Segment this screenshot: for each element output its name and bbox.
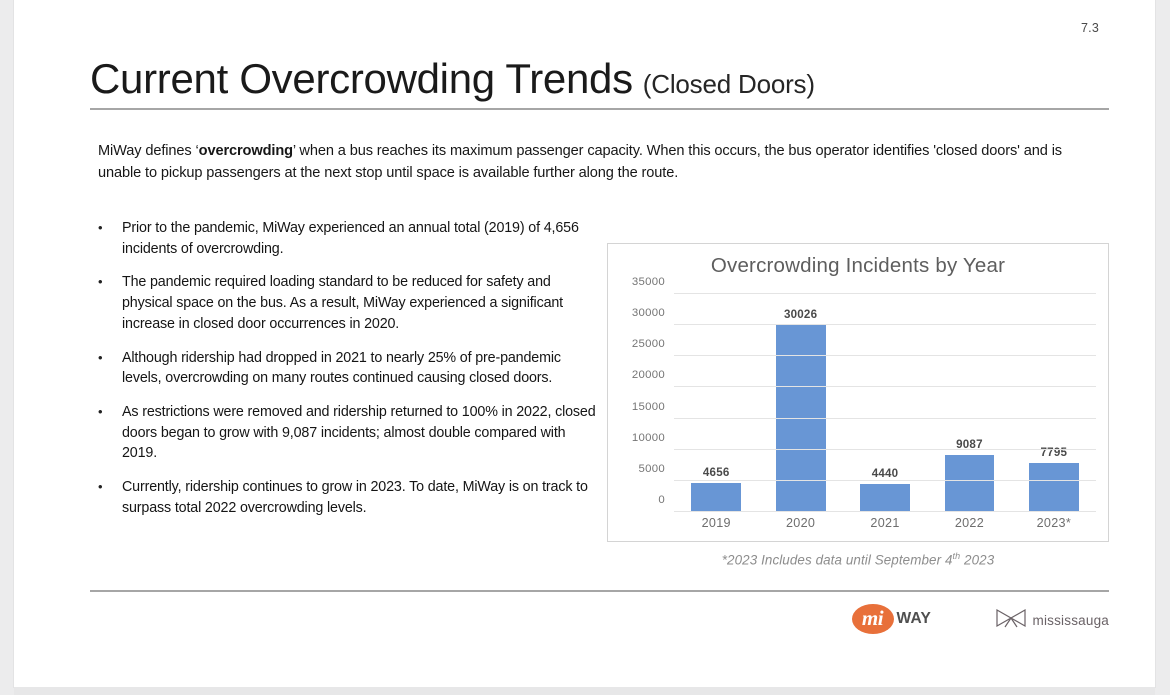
page-title: Current Overcrowding Trends (Closed Door… [90,58,1109,100]
chart-bar-value-label: 4440 [843,467,927,480]
list-item: • As restrictions were removed and rider… [98,402,598,464]
intro-paragraph: MiWay defines ‘overcrowding’ when a bus … [98,140,1073,184]
chart-footnote: *2023 Includes data until September 4th … [607,551,1109,567]
footer-logos: mi WAY mississauga [90,600,1109,644]
slide-page: 7.3 Current Overcrowding Trends (Closed … [14,0,1155,687]
mississauga-logo-word: mississauga [1033,613,1109,628]
list-item: • Although ridership had dropped in 2021… [98,348,598,389]
chart-bar-value-label: 4656 [674,466,758,479]
chart-x-tick-label: 2019 [674,516,758,530]
chart-gridline: 10000 [674,449,1096,450]
chart-x-axis-labels: 20192020202120222023* [674,516,1096,530]
list-item: • Currently, ridership continues to grow… [98,477,598,518]
page-title-main: Current Overcrowding Trends [90,58,633,100]
chart-bar [860,484,910,512]
bullet-marker-icon: • [98,218,122,259]
chart-x-tick-label: 2020 [758,516,842,530]
chart-y-tick-label: 30000 [632,307,665,319]
chart-footnote-suffix: 2023 [960,552,994,567]
chart-x-tick-label: 2022 [927,516,1011,530]
bullet-marker-icon: • [98,477,122,518]
bullet-marker-icon: • [98,348,122,389]
slide-screen: 7.3 Current Overcrowding Trends (Closed … [0,0,1170,695]
chart-gridline: 15000 [674,418,1096,419]
chart-footnote-prefix: *2023 Includes data until September 4 [722,552,953,567]
chart-bar [1029,463,1079,512]
page-title-subtitle: (Closed Doors) [643,69,815,100]
chart-gridline: 30000 [674,324,1096,325]
chart-gridline: 0 [674,511,1096,512]
list-item: • The pandemic required loading standard… [98,272,598,334]
mississauga-bowtie-icon [996,608,1026,633]
intro-text-before: MiWay defines ‘ [98,143,199,159]
chart-gridline: 5000 [674,480,1096,481]
chart-y-tick-label: 20000 [632,369,665,381]
miway-oval-icon: mi [852,604,894,634]
miway-logo: mi WAY [852,604,931,634]
chart-y-tick-label: 10000 [632,432,665,444]
list-item-text: Although ridership had dropped in 2021 t… [122,348,598,389]
chart-gridline: 20000 [674,386,1096,387]
chart-bar [945,455,995,512]
chart-y-tick-label: 5000 [638,463,665,475]
list-item-text: The pandemic required loading standard t… [122,272,598,334]
miway-logo-mi: mi [862,608,883,631]
chart-bar [691,483,741,512]
list-item-text: Prior to the pandemic, MiWay experienced… [122,218,598,259]
title-divider [90,108,1109,110]
page-bottom-edge [14,687,1155,695]
bullet-list: • Prior to the pandemic, MiWay experienc… [98,218,598,532]
bullet-marker-icon: • [98,272,122,334]
list-item-text: As restrictions were removed and ridersh… [122,402,598,464]
footer-divider [90,590,1109,592]
list-item-text: Currently, ridership continues to grow i… [122,477,598,518]
chart-y-tick-label: 15000 [632,401,665,413]
chart-y-tick-label: 25000 [632,338,665,350]
chart-bar-value-label: 30026 [758,308,842,321]
overcrowding-bar-chart: Overcrowding Incidents by Year 465630026… [607,243,1109,542]
chart-x-tick-label: 2023* [1012,516,1096,530]
miway-logo-way: WAY [897,610,931,628]
mississauga-logo: mississauga [996,608,1109,633]
intro-bold-term: overcrowding [199,143,293,159]
chart-x-tick-label: 2021 [843,516,927,530]
chart-gridline: 25000 [674,355,1096,356]
bullet-marker-icon: • [98,402,122,464]
page-number: 7.3 [1081,21,1099,35]
chart-gridline: 35000 [674,293,1096,294]
chart-y-tick-label: 0 [658,494,665,506]
chart-plot-area: 465630026444090877795 050001000015000200… [674,294,1096,512]
list-item: • Prior to the pandemic, MiWay experienc… [98,218,598,259]
chart-title: Overcrowding Incidents by Year [608,254,1108,278]
chart-y-tick-label: 35000 [632,276,665,288]
